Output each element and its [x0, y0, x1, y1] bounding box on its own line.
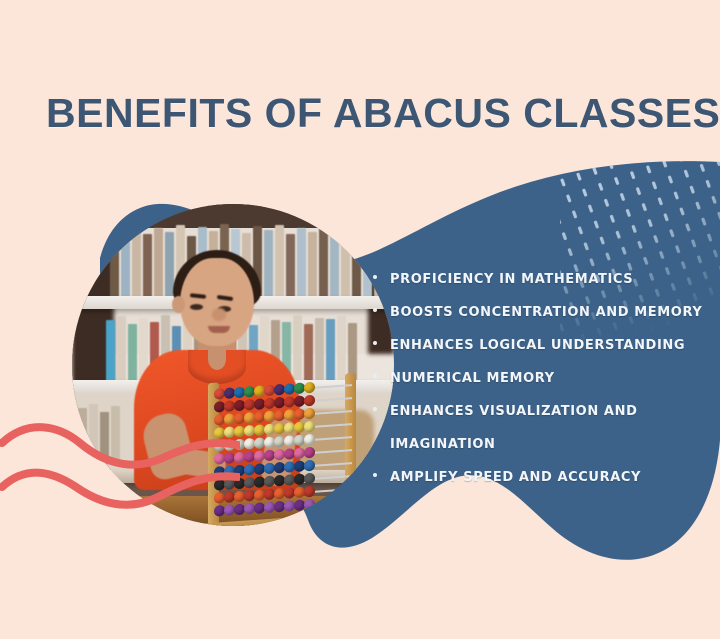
benefit-label: ENHANCES LOGICAL UNDERSTANDING: [390, 338, 685, 353]
bullet-dot-icon: [373, 275, 377, 279]
benefit-label: BOOSTS CONCENTRATION AND MEMORY: [390, 305, 702, 320]
list-item: AMPLIFY SPEED AND ACCURACY: [373, 470, 703, 503]
child-ear: [172, 296, 185, 313]
child-nose: [212, 308, 226, 321]
benefit-label: ENHANCES VISUALIZATION AND: [390, 404, 637, 419]
child-collar: [188, 350, 246, 384]
benefit-label: NUMERICAL MEMORY: [390, 371, 555, 386]
bullet-dot-icon: [373, 308, 377, 312]
list-item: ENHANCES LOGICAL UNDERSTANDING: [373, 338, 703, 371]
bullet-dot-icon: [373, 341, 377, 345]
benefit-label: PROFICIENCY IN MATHEMATICS: [390, 272, 633, 287]
benefits-list: PROFICIENCY IN MATHEMATICS BOOSTS CONCEN…: [373, 272, 703, 503]
list-item: BOOSTS CONCENTRATION AND MEMORY: [373, 305, 703, 338]
list-item: ENHANCES VISUALIZATION AND: [373, 404, 703, 437]
bullet-dot-icon: [373, 473, 377, 477]
benefit-label: AMPLIFY SPEED AND ACCURACY: [390, 470, 641, 485]
poster-canvas: BENEFITS OF ABACUS CLASSES: [0, 0, 720, 639]
child-mouth: [208, 326, 230, 333]
child-eye-left: [190, 304, 203, 310]
benefit-label: IMAGINATION: [390, 437, 496, 452]
page-title: BENEFITS OF ABACUS CLASSES: [46, 88, 720, 138]
bullet-dot-icon: [373, 407, 377, 411]
coral-wave-decoration: [0, 415, 240, 525]
list-item-continuation: IMAGINATION: [373, 437, 703, 470]
list-item: PROFICIENCY IN MATHEMATICS: [373, 272, 703, 305]
list-item: NUMERICAL MEMORY: [373, 371, 703, 404]
bullet-dot-icon: [373, 374, 377, 378]
